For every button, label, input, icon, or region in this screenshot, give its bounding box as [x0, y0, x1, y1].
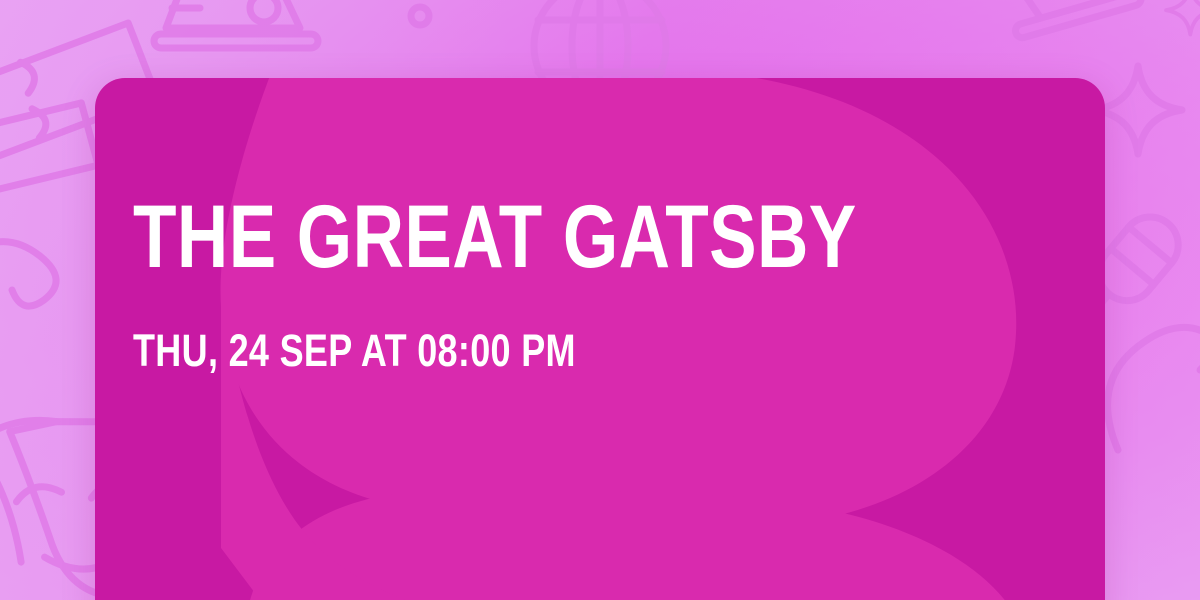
event-title: The Great Gatsby	[133, 196, 879, 278]
event-card[interactable]: The Great Gatsby Thu, 24 Sep at 08:00 PM	[95, 78, 1105, 600]
event-banner: The Great Gatsby Thu, 24 Sep at 08:00 PM	[0, 0, 1200, 600]
confetti-swirl-icon	[1108, 327, 1200, 450]
projector-icon	[154, 0, 318, 48]
confetti-dot-icon	[411, 7, 429, 25]
sparkle-icon	[1166, 0, 1200, 34]
event-card-text: The Great Gatsby Thu, 24 Sep at 08:00 PM	[133, 196, 1065, 373]
sparkle-icon	[1094, 66, 1182, 154]
podium-icon	[986, 0, 1147, 40]
confetti-swirl-icon	[0, 242, 56, 306]
event-date: Thu, 24 Sep at 08:00 PM	[133, 278, 879, 373]
